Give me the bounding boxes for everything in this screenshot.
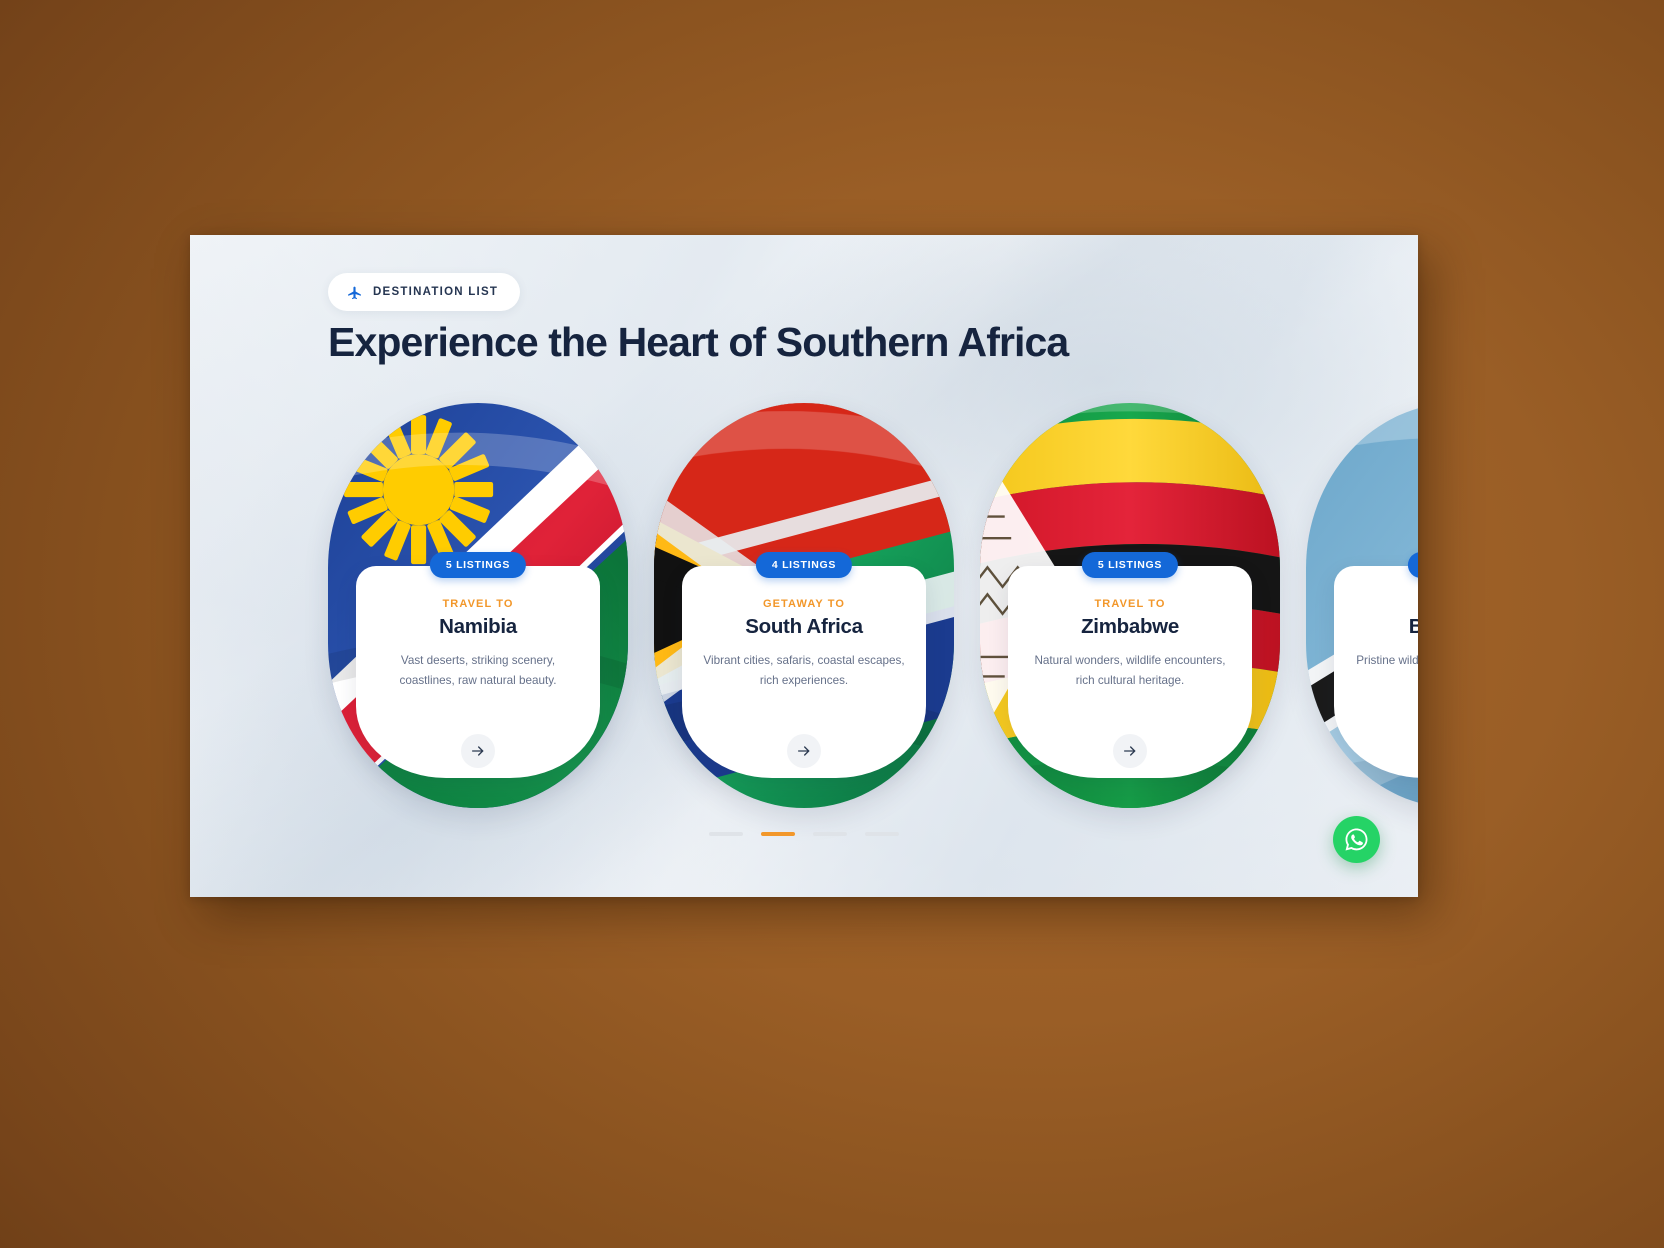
card-country: Zimbabwe — [1008, 615, 1252, 639]
card-arrow-button[interactable] — [787, 734, 821, 768]
destination-card-botswana[interactable]: 5 LISTINGS PLACES IN Botswana Pristine w… — [1306, 403, 1418, 808]
pagination-dot-3[interactable] — [813, 832, 847, 836]
card-panel: 5 LISTINGS TRAVEL TO Namibia Vast desert… — [356, 566, 600, 778]
destination-card-namibia[interactable]: 5 LISTINGS TRAVEL TO Namibia Vast desert… — [328, 403, 628, 808]
card-description: Vibrant cities, safaris, coastal escapes… — [699, 651, 909, 692]
card-country: Namibia — [356, 615, 600, 639]
pagination-dot-1[interactable] — [709, 832, 743, 836]
whatsapp-button[interactable] — [1333, 816, 1380, 863]
card-kicker: GETAWAY TO — [682, 598, 926, 610]
pagination-dot-4[interactable] — [865, 832, 899, 836]
whatsapp-icon — [1343, 826, 1370, 853]
airplane-icon — [346, 284, 363, 301]
card-description: Pristine wilderness, safaris, untouched … — [1351, 651, 1418, 692]
card-kicker: TRAVEL TO — [356, 598, 600, 610]
card-panel: 4 LISTINGS GETAWAY TO South Africa Vibra… — [682, 566, 926, 778]
card-kicker: TRAVEL TO — [1008, 598, 1252, 610]
card-country: Botswana — [1334, 615, 1418, 639]
card-description: Vast deserts, striking scenery, coastlin… — [373, 651, 583, 692]
pagination-dot-2[interactable] — [761, 832, 795, 836]
arrow-right-icon — [1122, 743, 1138, 759]
page-title: Experience the Heart of Southern Africa — [328, 319, 1068, 366]
site-frame: DESTINATION LIST Experience the Heart of… — [190, 235, 1418, 897]
destination-card-zimbabwe[interactable]: 5 LISTINGS TRAVEL TO Zimbabwe Natural wo… — [980, 403, 1280, 808]
listings-badge: 5 LISTINGS — [430, 552, 526, 578]
card-arrow-button[interactable] — [461, 734, 495, 768]
destination-carousel: 5 LISTINGS TRAVEL TO Namibia Vast desert… — [328, 403, 1418, 823]
arrow-right-icon — [796, 743, 812, 759]
card-country: South Africa — [682, 615, 926, 639]
card-kicker: PLACES IN — [1334, 598, 1418, 610]
arrow-right-icon — [470, 743, 486, 759]
card-arrow-button[interactable] — [1113, 734, 1147, 768]
card-description: Natural wonders, wildlife encounters, ri… — [1025, 651, 1235, 692]
card-panel: 5 LISTINGS TRAVEL TO Zimbabwe Natural wo… — [1008, 566, 1252, 778]
destination-list-badge: DESTINATION LIST — [328, 273, 520, 311]
destination-card-south-africa[interactable]: 4 LISTINGS GETAWAY TO South Africa Vibra… — [654, 403, 954, 808]
listings-badge: 5 LISTINGS — [1082, 552, 1178, 578]
badge-label: DESTINATION LIST — [373, 286, 498, 298]
carousel-pagination — [709, 832, 899, 836]
listings-badge: 4 LISTINGS — [756, 552, 852, 578]
